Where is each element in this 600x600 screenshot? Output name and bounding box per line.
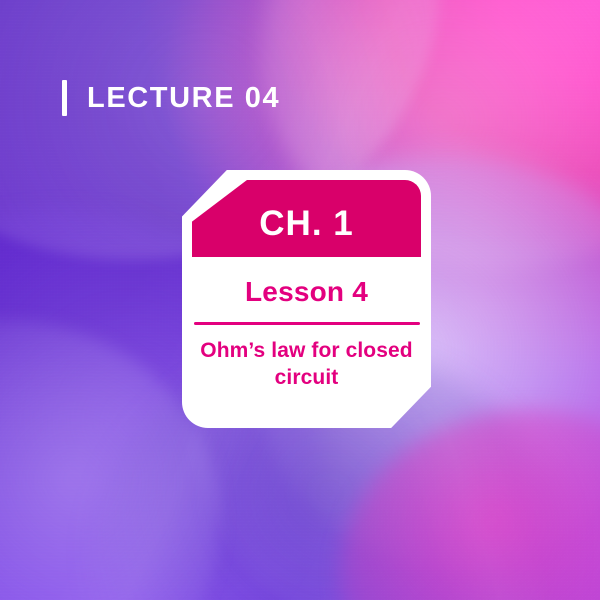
- accent-bar-icon: [62, 80, 67, 116]
- lesson-card: CH. 1 Lesson 4 Ohm’s law for closed circ…: [182, 170, 431, 428]
- lesson-number-label: Lesson 4: [245, 278, 368, 306]
- chapter-badge: CH. 1: [192, 180, 421, 257]
- lecture-header: LECTURE 04: [62, 80, 280, 116]
- poster-canvas: LECTURE 04 CH. 1 Lesson 4 Ohm’s law for …: [0, 0, 600, 600]
- lesson-card-content: CH. 1 Lesson 4 Ohm’s law for closed circ…: [182, 170, 431, 428]
- lesson-divider: [194, 322, 420, 325]
- chapter-label: CH. 1: [259, 196, 353, 241]
- background-blob-magenta-corner: [340, 410, 600, 600]
- lesson-topic-label: Ohm’s law for closed circuit: [192, 338, 421, 392]
- lecture-title: LECTURE 04: [87, 84, 280, 113]
